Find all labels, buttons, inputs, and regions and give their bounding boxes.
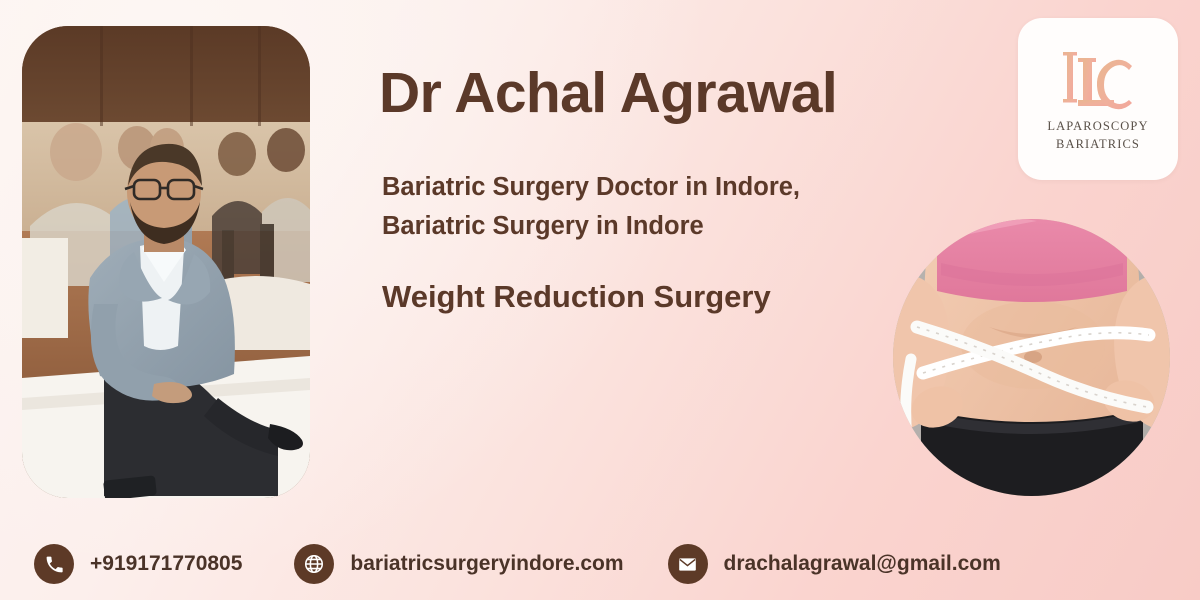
globe-icon <box>294 544 334 584</box>
website-url: bariatricsurgeryindore.com <box>350 552 623 576</box>
subtitle-line-2: Bariatric Surgery in Indore <box>382 207 922 246</box>
waist-measurement-photo <box>893 219 1170 496</box>
logo-text-line-2: BARIATRICS <box>1056 136 1140 154</box>
subtitle-line-1: Bariatric Surgery Doctor in Indore, <box>382 168 922 207</box>
doctor-photo <box>22 26 310 498</box>
ilc-monogram-icon <box>1046 44 1150 116</box>
page-title: Dr Achal Agrawal <box>379 64 939 124</box>
phone-number: +919171770805 <box>90 552 242 576</box>
tagline: Weight Reduction Surgery <box>382 278 922 315</box>
envelope-icon <box>668 544 708 584</box>
contact-bar: +919171770805 bariatricsurgeryindore.com… <box>0 528 1200 600</box>
subtitle: Bariatric Surgery Doctor in Indore, Bari… <box>382 168 922 246</box>
logo-text-line-1: LAPAROSCOPY <box>1047 118 1148 136</box>
contact-item-email[interactable]: drachalagrawal@gmail.com <box>668 544 1001 584</box>
contact-item-phone[interactable]: +919171770805 <box>34 544 242 584</box>
contact-item-website[interactable]: bariatricsurgeryindore.com <box>294 544 623 584</box>
clinic-logo-card: LAPAROSCOPY BARIATRICS <box>1018 18 1178 180</box>
promotional-banner: LAPAROSCOPY BARIATRICS Dr Achal Agrawal … <box>0 0 1200 600</box>
phone-icon <box>34 544 74 584</box>
email-address: drachalagrawal@gmail.com <box>724 552 1001 576</box>
